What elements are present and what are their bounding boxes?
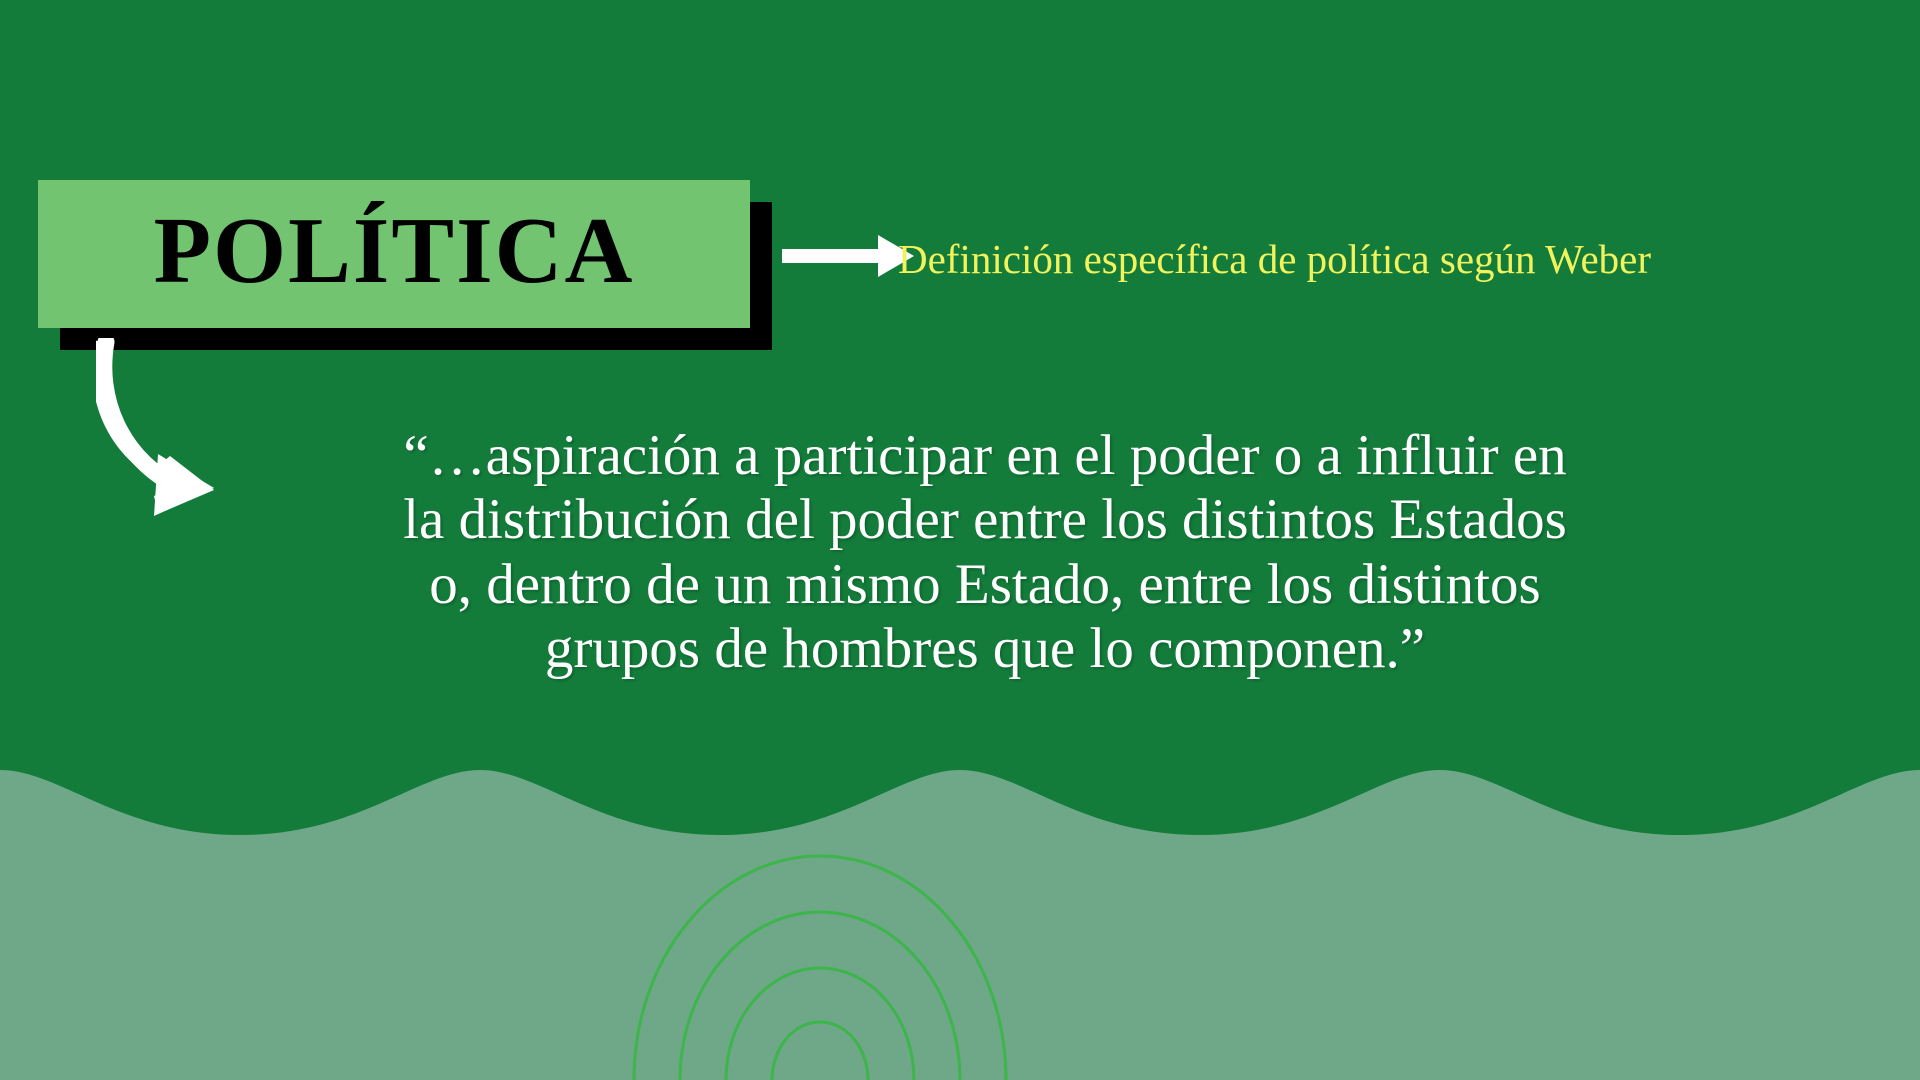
- quote-line: grupos de hombres que lo componen.”: [270, 617, 1700, 681]
- title-block: POLÍTICA: [38, 180, 750, 328]
- quote-block: “…aspiración a participar en el poder o …: [270, 424, 1700, 682]
- quote-line: “…aspiración a participar en el poder o …: [270, 424, 1700, 488]
- arrow-right-icon: [782, 228, 914, 284]
- slide-canvas: POLÍTICA Definición específica de políti…: [0, 0, 1920, 1080]
- wave-shape: [0, 770, 1920, 1080]
- arrow-curve-down-right-icon: [96, 338, 266, 518]
- wave-divider-icon: [0, 720, 1920, 1080]
- title-box: POLÍTICA: [38, 180, 750, 328]
- caption-text: Definición específica de política según …: [898, 237, 1651, 282]
- quote-line: la distribución del poder entre los dist…: [270, 488, 1700, 552]
- quote-line: o, dentro de un mismo Estado, entre los …: [270, 553, 1700, 617]
- page-title: POLÍTICA: [154, 204, 635, 304]
